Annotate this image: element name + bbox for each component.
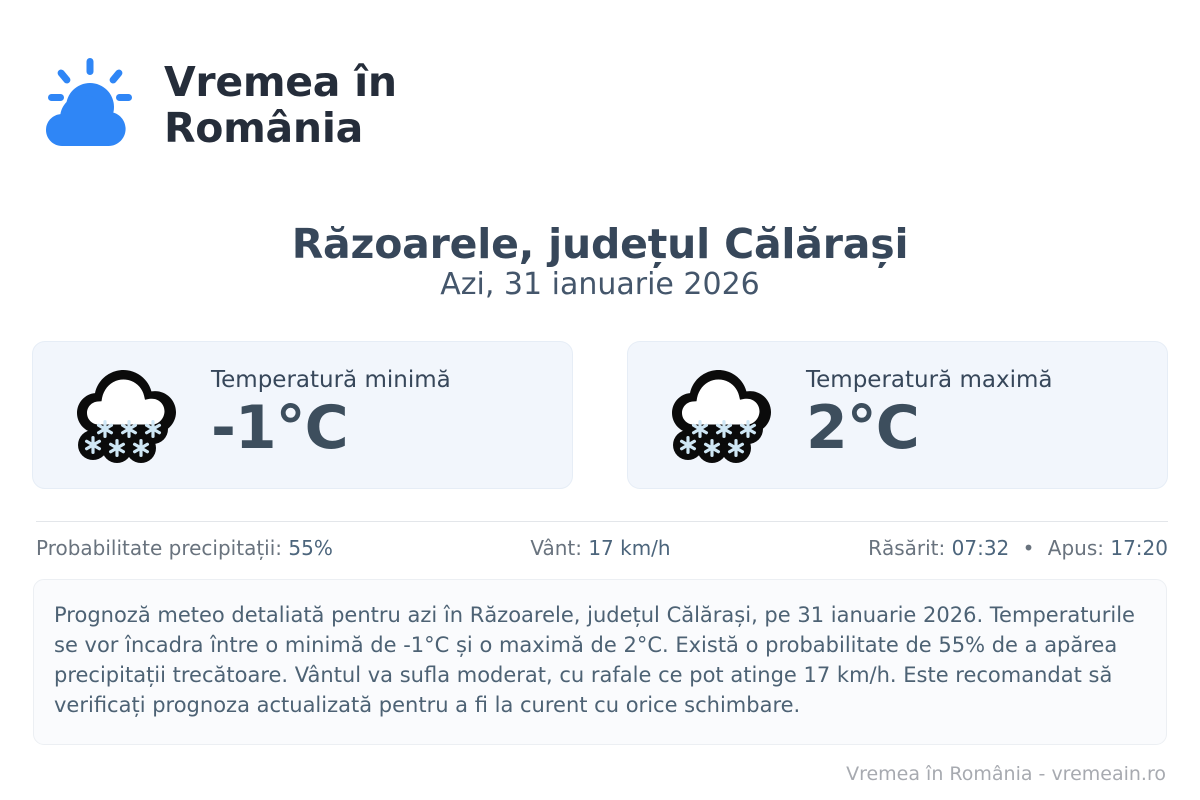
stats-row: Probabilitate precipitații: 55% Vânt: 17… <box>36 536 1168 560</box>
wind-value: 17 km/h <box>588 536 670 560</box>
precipitation-label: Probabilitate precipitații: <box>36 536 282 560</box>
temperature-max-body: Temperatură maximă 2°C <box>806 366 1052 460</box>
temperature-min-card: Temperatură minimă -1°C <box>32 341 573 489</box>
precipitation-value: 55% <box>288 536 332 560</box>
stats-divider <box>36 521 1168 522</box>
page-subtitle: Azi, 31 ianuarie 2026 <box>0 267 1200 302</box>
snow-cloud-icon <box>662 363 784 467</box>
snow-cloud-icon <box>67 363 189 467</box>
sun-times-stat: Răsărit: 07:32 • Apus: 17:20 <box>868 536 1168 560</box>
temperature-min-value: -1°C <box>211 397 451 460</box>
brand-name: Vremea în România <box>164 60 397 152</box>
sunset-label: Apus: <box>1048 536 1104 560</box>
temperature-min-label: Temperatură minimă <box>211 366 451 395</box>
forecast-description-text: Prognoză meteo detaliată pentru azi în R… <box>54 600 1142 720</box>
footer-credit: Vremea în România - vremeain.ro <box>846 763 1166 785</box>
temperature-max-card: Temperatură maximă 2°C <box>627 341 1168 489</box>
site-header: Vremea în România <box>36 52 397 160</box>
temperature-cards: Temperatură minimă -1°C <box>32 341 1168 489</box>
separator-bullet: • <box>1016 536 1042 560</box>
sunrise-value: 07:32 <box>952 536 1010 560</box>
temperature-max-value: 2°C <box>806 397 1052 460</box>
precipitation-stat: Probabilitate precipitații: 55% <box>36 536 333 560</box>
sunset-value: 17:20 <box>1110 536 1168 560</box>
wind-stat: Vânt: 17 km/h <box>333 536 868 560</box>
sunrise-label: Răsărit: <box>868 536 945 560</box>
temperature-max-label: Temperatură maximă <box>806 366 1052 395</box>
forecast-description-box: Prognoză meteo detaliată pentru azi în R… <box>33 579 1167 745</box>
wind-label: Vânt: <box>530 536 582 560</box>
sun-behind-cloud-icon <box>36 52 144 160</box>
temperature-min-body: Temperatură minimă -1°C <box>211 366 451 460</box>
page-title: Răzoarele, județul Călărași <box>0 220 1200 268</box>
weather-page: Vremea în România Răzoarele, județul Căl… <box>0 0 1200 800</box>
